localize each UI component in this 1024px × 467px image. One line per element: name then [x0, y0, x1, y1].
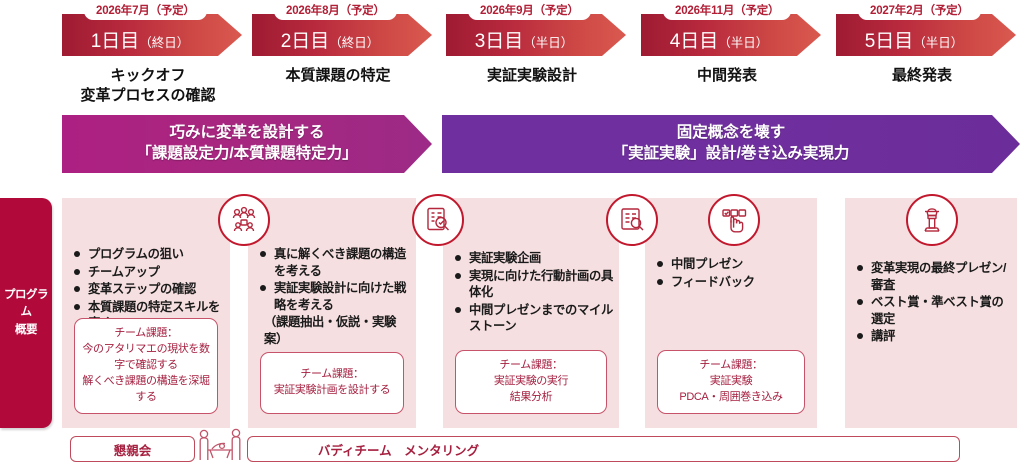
phase-column-4: 4日目（半日） 2026年11月（予定） 中間発表 [641, 0, 821, 62]
team-task-box-3: チーム課題： 実証実験の実行 結果分析 [455, 350, 607, 414]
phase-date-4: 2026年11月（予定） [675, 2, 779, 18]
list-item: 実証実験設計に向けた戦略を考える [258, 280, 410, 313]
people-meeting-icon [218, 194, 270, 246]
phase-chevron-2: 2日目（終日） 2026年8月（予定） [252, 0, 432, 62]
phase-date-2: 2026年8月（予定） [286, 2, 385, 18]
social-event-label: 懇親会 [114, 440, 152, 459]
phase-date-tab-1: 2026年7月（予定） [84, 0, 207, 20]
capability-banner-experiment-text: 固定概念を壊す 「実証実験」設計/巻き込み実現力 [613, 123, 850, 165]
list-item: （課題抽出・仮説・実験案） [258, 314, 410, 347]
document-search-icon [412, 194, 464, 246]
phase-duration-4: （半日） [718, 36, 768, 50]
phase-date-tab-3: 2026年9月（予定） [468, 0, 591, 20]
chevron-body: 2日目（終日） [252, 14, 408, 56]
list-item: ベスト賞・準ベスト賞の選定 [855, 294, 1011, 327]
buddy-mentoring-bar: バディチーム メンタリング [247, 436, 960, 462]
phase-date-1: 2026年7月（予定） [96, 2, 195, 18]
phase-duration-5: （半日） [913, 36, 963, 50]
bullet-list-3: 実証実験企画 実現に向けた行動計画の具体化 中間プレゼンまでのマイルストーン [453, 250, 613, 336]
phase-date-tab-4: 2026年11月（予定） [663, 0, 791, 20]
phase-duration-3: （半日） [523, 36, 573, 50]
list-item: フィードバック [655, 274, 811, 291]
chevron-body: 5日目（半日） [836, 14, 992, 56]
list-item: 真に解くべき課題の構造を考える [258, 246, 410, 279]
phase-column-5: 5日目（半日） 2027年2月（予定） 最終発表 [836, 0, 1016, 62]
program-overview-sidebar: プログラム 概要 [0, 198, 52, 428]
phase-chevron-1: 1日目（終日） 2026年7月（予定） [62, 0, 242, 62]
phase-title-3: 実証実験設計 [446, 66, 618, 86]
team-task-box-1: チーム課題： 今のアタリマエの現状を数字で確認する 解くべき課題の構造を深堀する [74, 318, 218, 414]
networking-people-icon [196, 428, 244, 467]
phase-title-1: キックオフ 変革プロセスの確認 [62, 66, 234, 107]
phase-column-3: 3日目（半日） 2026年9月（予定） 実証実験設計 [446, 0, 626, 62]
program-overview-label: プログラム 概要 [0, 287, 52, 339]
phase-date-5: 2027年2月（予定） [870, 2, 969, 18]
list-item: 変革ステップの確認 [72, 281, 224, 298]
content-column-3: 実証実験企画 実現に向けた行動計画の具体化 中間プレゼンまでのマイルストーン チ… [443, 198, 619, 428]
capability-banner-design-text: 巧みに変革を設計する 「課題設定力/本質課題特定力」 [136, 123, 357, 165]
phase-day-4: 4日目（半日） [670, 26, 769, 53]
phase-day-3: 3日目（半日） [475, 26, 574, 53]
social-event-bar: 懇親会 [70, 436, 195, 462]
phase-title-2: 本質課題の特定 [252, 66, 424, 86]
list-item: 変革実現の最終プレゼン/審査 [855, 260, 1011, 293]
capability-banner-design: 巧みに変革を設計する 「課題設定力/本質課題特定力」 [62, 115, 432, 173]
list-item: プログラムの狙い [72, 246, 224, 263]
program-roadmap-slide: 1日目（終日） 2026年7月（予定） キックオフ 変革プロセスの確認 2日目（… [0, 0, 1024, 465]
bullet-list-5: 変革実現の最終プレゼン/審査 ベスト賞・準ベスト賞の選定 講評 [855, 260, 1011, 346]
buddy-mentoring-label: バディチーム メンタリング [318, 440, 479, 459]
list-item: 中間プレゼン [655, 256, 811, 273]
phase-column-2: 2日目（終日） 2026年8月（予定） 本質課題の特定 [252, 0, 432, 62]
phase-title-5: 最終発表 [836, 66, 1008, 86]
phase-duration-1: （終日） [139, 36, 189, 50]
phase-column-1: 1日目（終日） 2026年7月（予定） キックオフ 変革プロセスの確認 [62, 0, 242, 62]
list-item: 実証実験企画 [453, 250, 613, 267]
phase-chevron-5: 5日目（半日） 2027年2月（予定） [836, 0, 1016, 62]
phase-day-2: 2日目（終日） [281, 26, 380, 53]
podium-icon [906, 194, 958, 246]
content-column-2: 真に解くべき課題の構造を考える 実証実験設計に向けた戦略を考える （課題抽出・仮… [248, 198, 416, 428]
phase-date-tab-2: 2026年8月（予定） [274, 0, 397, 20]
chevron-body: 1日目（終日） [62, 14, 218, 56]
chevron-body: 3日目（半日） [446, 14, 602, 56]
plan-review-icon [606, 194, 658, 246]
phase-duration-2: （終日） [329, 36, 379, 50]
list-item: 中間プレゼンまでのマイルストーン [453, 302, 613, 335]
chevron-body: 4日目（半日） [641, 14, 797, 56]
bullet-list-2: 真に解くべき課題の構造を考える 実証実験設計に向けた戦略を考える （課題抽出・仮… [258, 246, 410, 349]
bullet-list-4: 中間プレゼン フィードバック [655, 256, 811, 291]
team-task-box-4: チーム課題： 実証実験 PDCA・周囲巻き込み [657, 350, 805, 414]
phase-day-5: 5日目（半日） [865, 26, 964, 53]
list-item: 実現に向けた行動計画の具体化 [453, 268, 613, 301]
content-column-1: プログラムの狙い チームアップ 変革ステップの確認 本質課題の特定スキルを磨く … [62, 198, 230, 428]
team-task-box-2: チーム課題： 実証実験計画を設計する [260, 352, 404, 414]
phase-chevron-3: 3日目（半日） 2026年9月（予定） [446, 0, 626, 62]
list-item: 講評 [855, 328, 1011, 345]
phase-date-3: 2026年9月（予定） [480, 2, 579, 18]
phase-title-4: 中間発表 [641, 66, 813, 86]
phase-day-1: 1日目（終日） [91, 26, 190, 53]
phase-date-tab-5: 2027年2月（予定） [858, 0, 981, 20]
checklist-hand-icon [708, 194, 760, 246]
phase-chevron-4: 4日目（半日） 2026年11月（予定） [641, 0, 821, 62]
list-item: チームアップ [72, 264, 224, 281]
capability-banner-experiment: 固定概念を壊す 「実証実験」設計/巻き込み実現力 [442, 115, 1020, 173]
